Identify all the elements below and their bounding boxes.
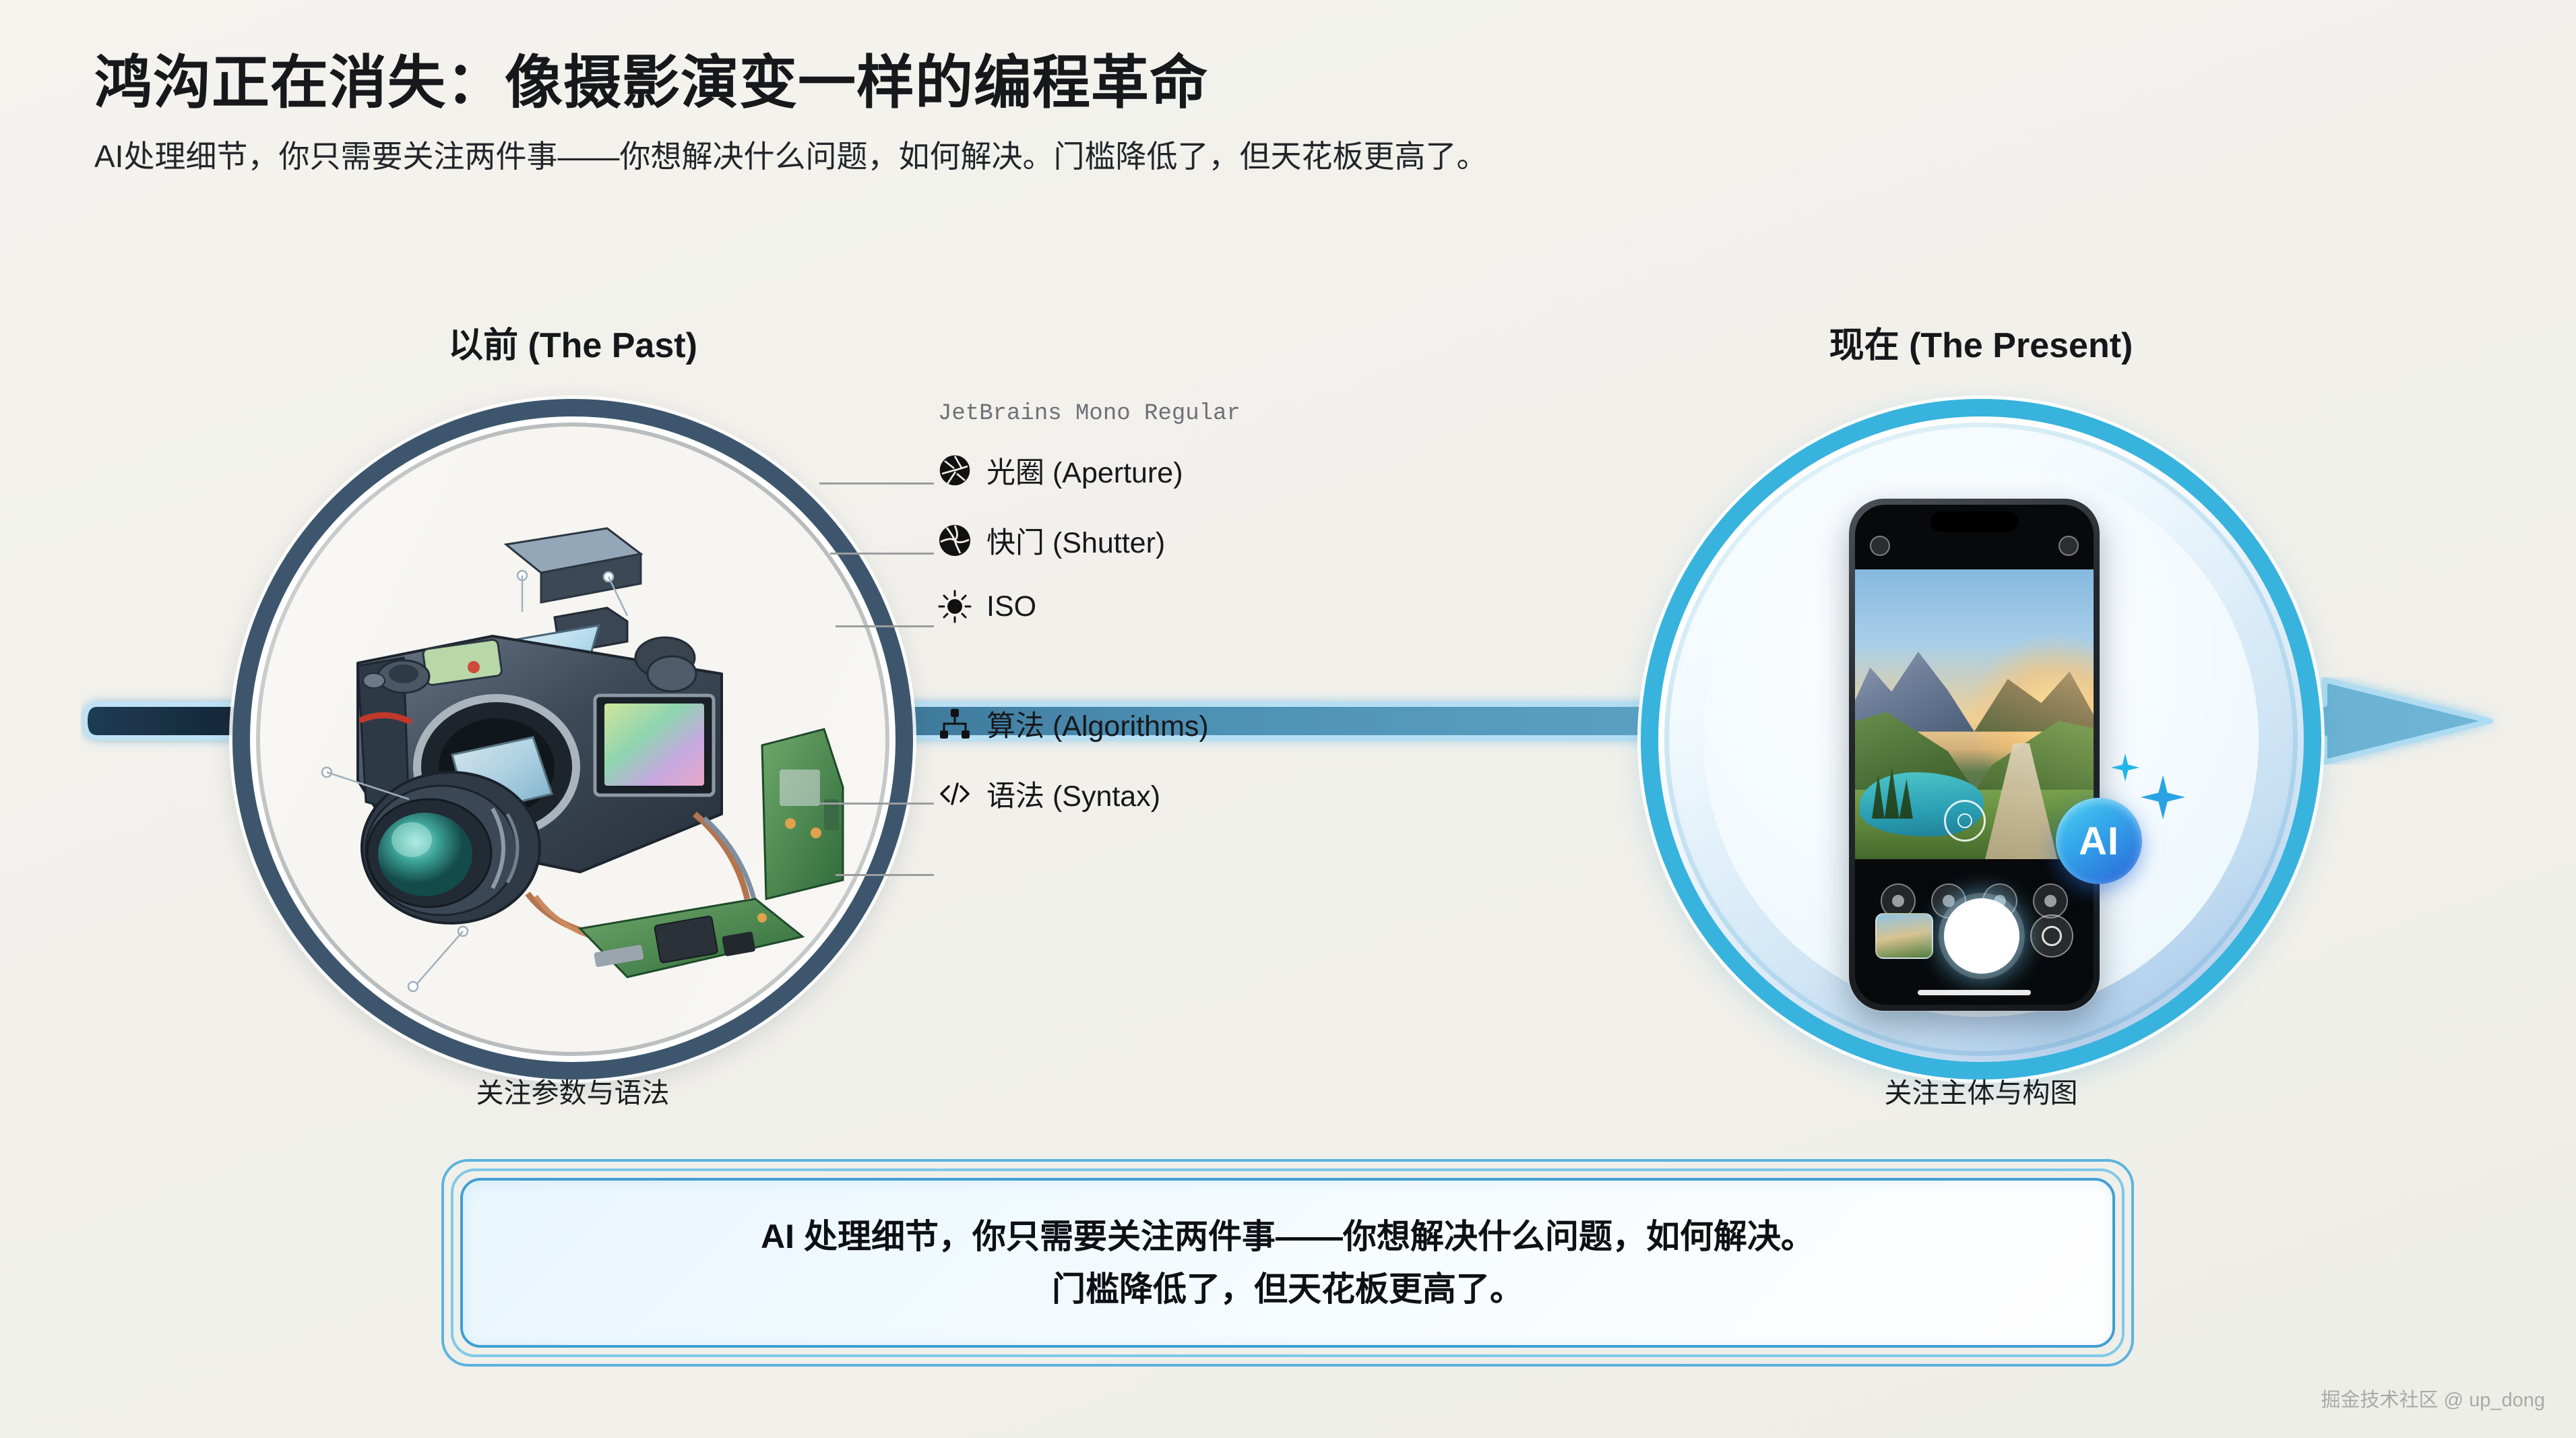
camera-top-cover	[506, 528, 641, 602]
legend-item-iso[interactable]: ISO	[938, 590, 1544, 623]
legend-label-algorithm: 算法 (Algorithms)	[986, 703, 1209, 745]
camera-topbar	[1855, 536, 2094, 565]
flip-camera-icon[interactable]	[2030, 914, 2073, 958]
legend-label-aperture: 光圈 (Aperture)	[986, 449, 1183, 491]
camera-shutter-row	[1855, 896, 2094, 976]
legend-label-shutter: 快门 (Shutter)	[986, 520, 1165, 561]
connector-line-aperture	[819, 482, 934, 484]
connector-line-algorithm	[819, 803, 934, 805]
home-indicator	[1918, 990, 2031, 995]
dslr-camera-illustration	[290, 497, 897, 1009]
circle-present: AI	[1641, 399, 2321, 1080]
legend-label-iso: ISO	[986, 590, 1036, 623]
gallery-thumbnail[interactable]	[1875, 913, 1933, 959]
camera-sensor	[595, 695, 714, 795]
legend-item-aperture[interactable]: 光圈 (Aperture)	[938, 449, 1544, 491]
camera-pcb-side	[762, 729, 843, 899]
callout-banner: AI 处理细节，你只需要关注两件事——你想解决什么问题，如何解决。 门槛降低了，…	[441, 1159, 2134, 1367]
sparkle-icon-large	[2141, 775, 2185, 819]
panel-heading-past: 以前 (The Past)	[229, 317, 916, 367]
aperture-icon	[938, 454, 972, 487]
panel-heading-present: 现在 (The Present)	[1637, 317, 2325, 367]
sparkle-icon-small	[2111, 753, 2139, 782]
parameter-legend: JetBrains Mono Regular 光圈 (Aperture)	[938, 401, 1544, 815]
caption-past: 关注参数与语法	[232, 1070, 913, 1111]
page-subtitle: AI处理细节，你只需要关注两件事——你想解决什么问题，如何解决。门槛降低了，但天…	[94, 137, 2453, 177]
header: 鸿沟正在消失：像摄影演变一样的编程革命 AI处理细节，你只需要关注两件事——你想…	[94, 51, 2453, 177]
legend-spacer	[938, 623, 1544, 703]
callout-line-2: 门槛降低了，但天花板更高了。	[1052, 1268, 1523, 1311]
legend-item-shutter[interactable]: 快门 (Shutter)	[938, 520, 1544, 561]
legend-item-syntax[interactable]: 语法 (Syntax)	[938, 773, 1544, 815]
flash-toggle-icon[interactable]	[1870, 536, 1890, 556]
camera-viewfinder	[1855, 569, 2094, 859]
live-photo-icon[interactable]	[2059, 536, 2079, 556]
focus-ring-icon[interactable]	[1944, 800, 1986, 842]
page-title: 鸿沟正在消失：像摄影演变一样的编程革命	[94, 51, 2453, 115]
algorithm-icon	[938, 707, 972, 741]
connector-line-iso	[836, 625, 934, 627]
legend-label-syntax: 语法 (Syntax)	[986, 773, 1160, 815]
phone-notch	[1930, 511, 2018, 532]
caption-present: 关注主体与构图	[1641, 1070, 2321, 1111]
code-tag-icon	[938, 777, 972, 811]
camera-pcb-main	[580, 899, 803, 977]
callout-line-1: AI 处理细节，你只需要关注两件事——你想解决什么问题，如何解决。	[761, 1215, 1815, 1258]
circle-past	[232, 399, 913, 1080]
callout-body: AI 处理细节，你只需要关注两件事——你想解决什么问题，如何解决。 门槛降低了，…	[460, 1178, 2115, 1348]
legend-font-note: JetBrains Mono Regular	[938, 401, 1544, 427]
connector-line-syntax	[836, 874, 934, 876]
legend-item-algorithm[interactable]: 算法 (Algorithms)	[938, 703, 1544, 745]
smartphone-mockup	[1849, 499, 2100, 1011]
infographic-page: 鸿沟正在消失：像摄影演变一样的编程革命 AI处理细节，你只需要关注两件事——你想…	[0, 0, 2576, 1438]
shutter-icon	[938, 524, 972, 557]
watermark: 掘金技术社区 @ up_dong	[2321, 1384, 2545, 1412]
phone-screen	[1855, 505, 2094, 1005]
shutter-button[interactable]	[1944, 898, 2019, 974]
ai-badge[interactable]: AI	[2056, 798, 2142, 884]
iso-sun-icon	[938, 590, 972, 623]
camera-lens	[362, 772, 540, 923]
connector-line-shutter	[830, 553, 934, 555]
